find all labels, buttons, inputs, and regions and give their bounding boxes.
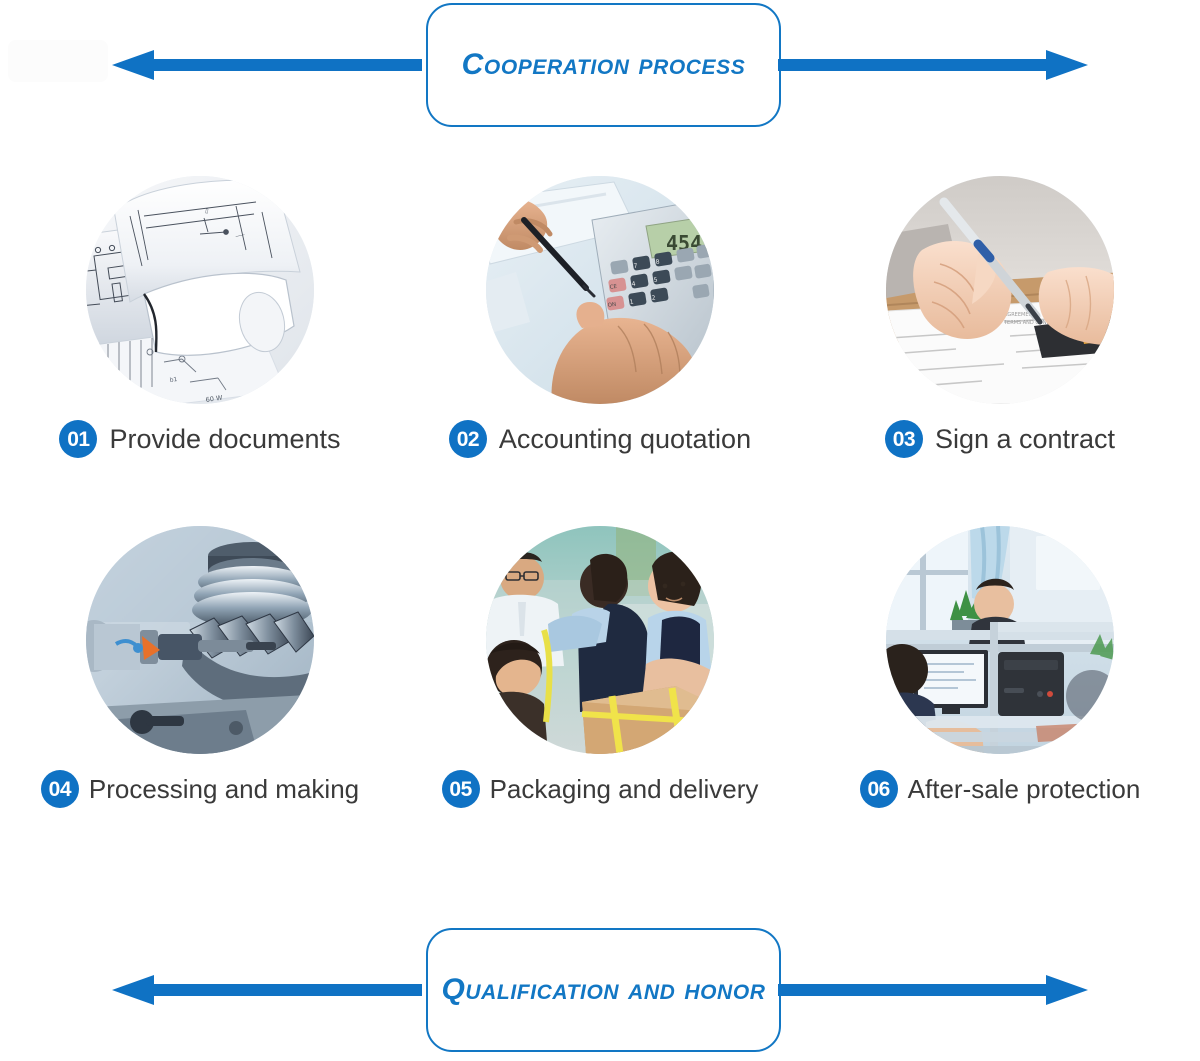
svg-text:b1: b1 [169, 376, 178, 384]
office-support-photo [886, 526, 1114, 754]
step-label-05: Packaging and delivery [490, 776, 759, 802]
banner-title-box-qualification: Qualification and honor [426, 928, 781, 1052]
step-card-03[interactable]: AGREEMENT TERMS AND CONDITIONS [800, 170, 1200, 520]
banner-qualification-and-honor: Qualification and honor [0, 925, 1200, 1055]
banner-title-cooperation: Cooperation process [462, 50, 746, 80]
step-number-badge-05: 05 [442, 770, 480, 808]
step-row-1: b1 60 W 2 ⊡ [0, 170, 1200, 520]
arrow-left-icon [112, 50, 422, 80]
step-caption-02: 02 Accounting quotation [400, 420, 800, 458]
arrow-right-icon [778, 50, 1088, 80]
svg-text:CE: CE [609, 284, 618, 291]
banner-title-box-cooperation: Cooperation process [426, 3, 781, 127]
calculator-hands-photo: 4549 [486, 176, 714, 404]
contract-signing-photo: AGREEMENT TERMS AND CONDITIONS [886, 176, 1114, 404]
arrow-right-icon [778, 975, 1088, 1005]
step-label-04: Processing and making [89, 776, 359, 802]
step-caption-01: 01 Provide documents [0, 420, 400, 458]
step-caption-04: 04 Processing and making [0, 770, 400, 808]
svg-text:60 W: 60 W [205, 394, 223, 404]
step-card-05[interactable]: 05 Packaging and delivery [400, 520, 800, 870]
step-number-badge-06: 06 [860, 770, 898, 808]
step-label-06: After-sale protection [908, 776, 1141, 802]
step-caption-06: 06 After-sale protection [800, 770, 1200, 808]
step-label-02: Accounting quotation [499, 426, 751, 453]
step-number-badge-01: 01 [59, 420, 97, 458]
step-row-2: 04 Processing and making [0, 520, 1200, 870]
rolled-blueprints-photo: b1 60 W 2 ⊡ [86, 176, 314, 404]
step-caption-05: 05 Packaging and delivery [400, 770, 800, 808]
arrow-left-icon [112, 975, 422, 1005]
cooperation-steps-grid: b1 60 W 2 ⊡ [0, 170, 1200, 870]
step-number-badge-02: 02 [449, 420, 487, 458]
svg-text:▭: ▭ [203, 208, 211, 215]
banner-title-qualification: Qualification and honor [441, 975, 765, 1005]
step-label-01: Provide documents [109, 426, 340, 453]
cnc-machining-photo [86, 526, 314, 754]
step-number-badge-04: 04 [41, 770, 79, 808]
packaging-workers-photo [486, 526, 714, 754]
step-card-04[interactable]: 04 Processing and making [0, 520, 400, 870]
step-card-06[interactable]: 06 After-sale protection [800, 520, 1200, 870]
banner-cooperation-process: Cooperation process [0, 0, 1200, 130]
step-card-01[interactable]: b1 60 W 2 ⊡ [0, 170, 400, 520]
step-label-03: Sign a contract [935, 426, 1115, 453]
step-caption-03: 03 Sign a contract [800, 420, 1200, 458]
step-number-badge-03: 03 [885, 420, 923, 458]
step-card-02[interactable]: 4549 [400, 170, 800, 520]
